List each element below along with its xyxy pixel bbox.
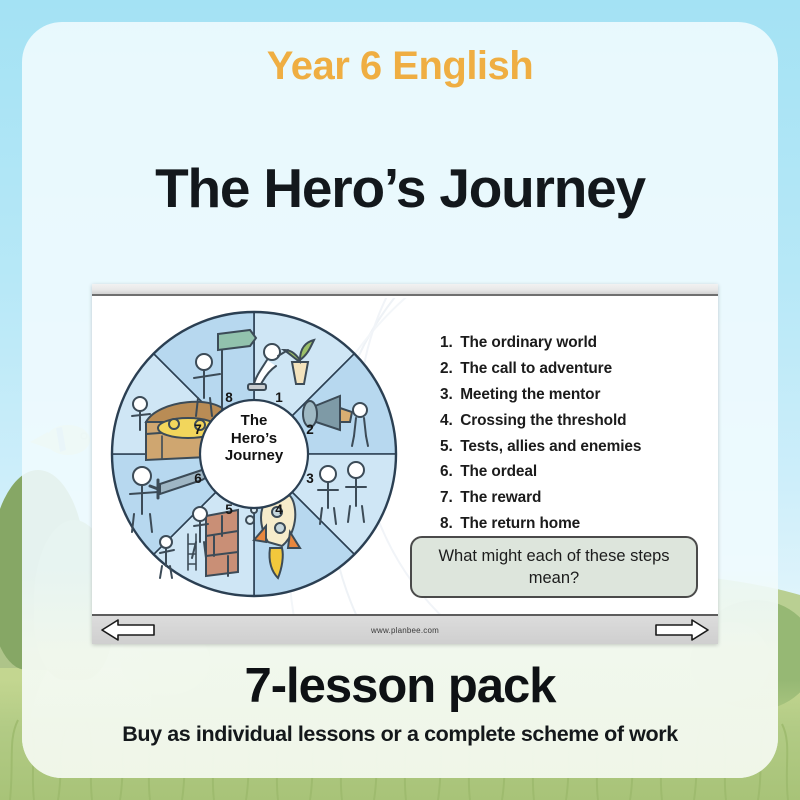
step-number: 2. [440, 356, 456, 382]
list-item: 4. Crossing the threshold [440, 408, 710, 434]
step-label: The return home [460, 515, 580, 532]
step-number: 4. [440, 408, 456, 434]
list-item: 1. The ordinary world [440, 330, 710, 356]
wheel-number-7: 7 [194, 422, 202, 437]
step-number: 5. [440, 434, 456, 460]
list-item: 8. The return home [440, 511, 710, 537]
list-item: 6. The ordeal [440, 459, 710, 485]
slide-footer-url: www.planbee.com [371, 626, 439, 635]
next-slide-arrow[interactable] [654, 618, 710, 642]
wheel-number-2: 2 [306, 422, 314, 437]
step-number: 1. [440, 330, 456, 356]
page-title: The Hero’s Journey [22, 156, 778, 220]
wheel-number-1: 1 [275, 390, 283, 405]
step-number: 6. [440, 459, 456, 485]
wheel-diagram: 1 2 3 4 5 6 7 8 [104, 304, 404, 604]
promo-headline: 7-lesson pack [22, 658, 778, 714]
wheel-number-4: 4 [275, 502, 283, 517]
step-number: 7. [440, 485, 456, 511]
wheel-number-6: 6 [194, 471, 202, 486]
journey-steps-list: 1. The ordinary world 2. The call to adv… [440, 330, 710, 537]
step-label: Tests, allies and enemies [460, 438, 641, 455]
wheel-number-5: 5 [225, 502, 233, 517]
slide-body: 1 2 3 4 5 6 7 8 The Hero’s Jou [92, 298, 718, 614]
question-callout-box: What might each of these steps mean? [410, 536, 698, 598]
promo-graphic: Year 6 English The Hero’s Journey [0, 0, 800, 800]
step-label: Crossing the threshold [460, 412, 626, 429]
list-item: 3. Meeting the mentor [440, 382, 710, 408]
content-card: Year 6 English The Hero’s Journey [22, 22, 778, 778]
list-item: 7. The reward [440, 485, 710, 511]
lesson-slide-preview[interactable]: 1 2 3 4 5 6 7 8 The Hero’s Jou [92, 284, 718, 644]
subject-kicker: Year 6 English [22, 44, 778, 89]
step-number: 8. [440, 511, 456, 537]
slide-footer-bar: www.planbee.com [92, 614, 718, 644]
list-item: 5. Tests, allies and enemies [440, 434, 710, 460]
step-label: The call to adventure [460, 360, 612, 377]
step-label: The ordinary world [460, 334, 597, 351]
step-label: Meeting the mentor [460, 386, 600, 403]
step-number: 3. [440, 382, 456, 408]
promo-subtext: Buy as individual lessons or a complete … [22, 722, 778, 747]
wheel-number-3: 3 [306, 471, 314, 486]
step-label: The reward [460, 489, 541, 506]
step-label: The ordeal [460, 463, 537, 480]
previous-slide-arrow[interactable] [100, 618, 156, 642]
heros-journey-wheel: 1 2 3 4 5 6 7 8 The Hero’s Jou [104, 304, 404, 604]
wheel-number-8: 8 [225, 390, 233, 405]
slide-top-bar [92, 284, 718, 296]
question-text: What might each of these steps mean? [426, 545, 682, 589]
list-item: 2. The call to adventure [440, 356, 710, 382]
